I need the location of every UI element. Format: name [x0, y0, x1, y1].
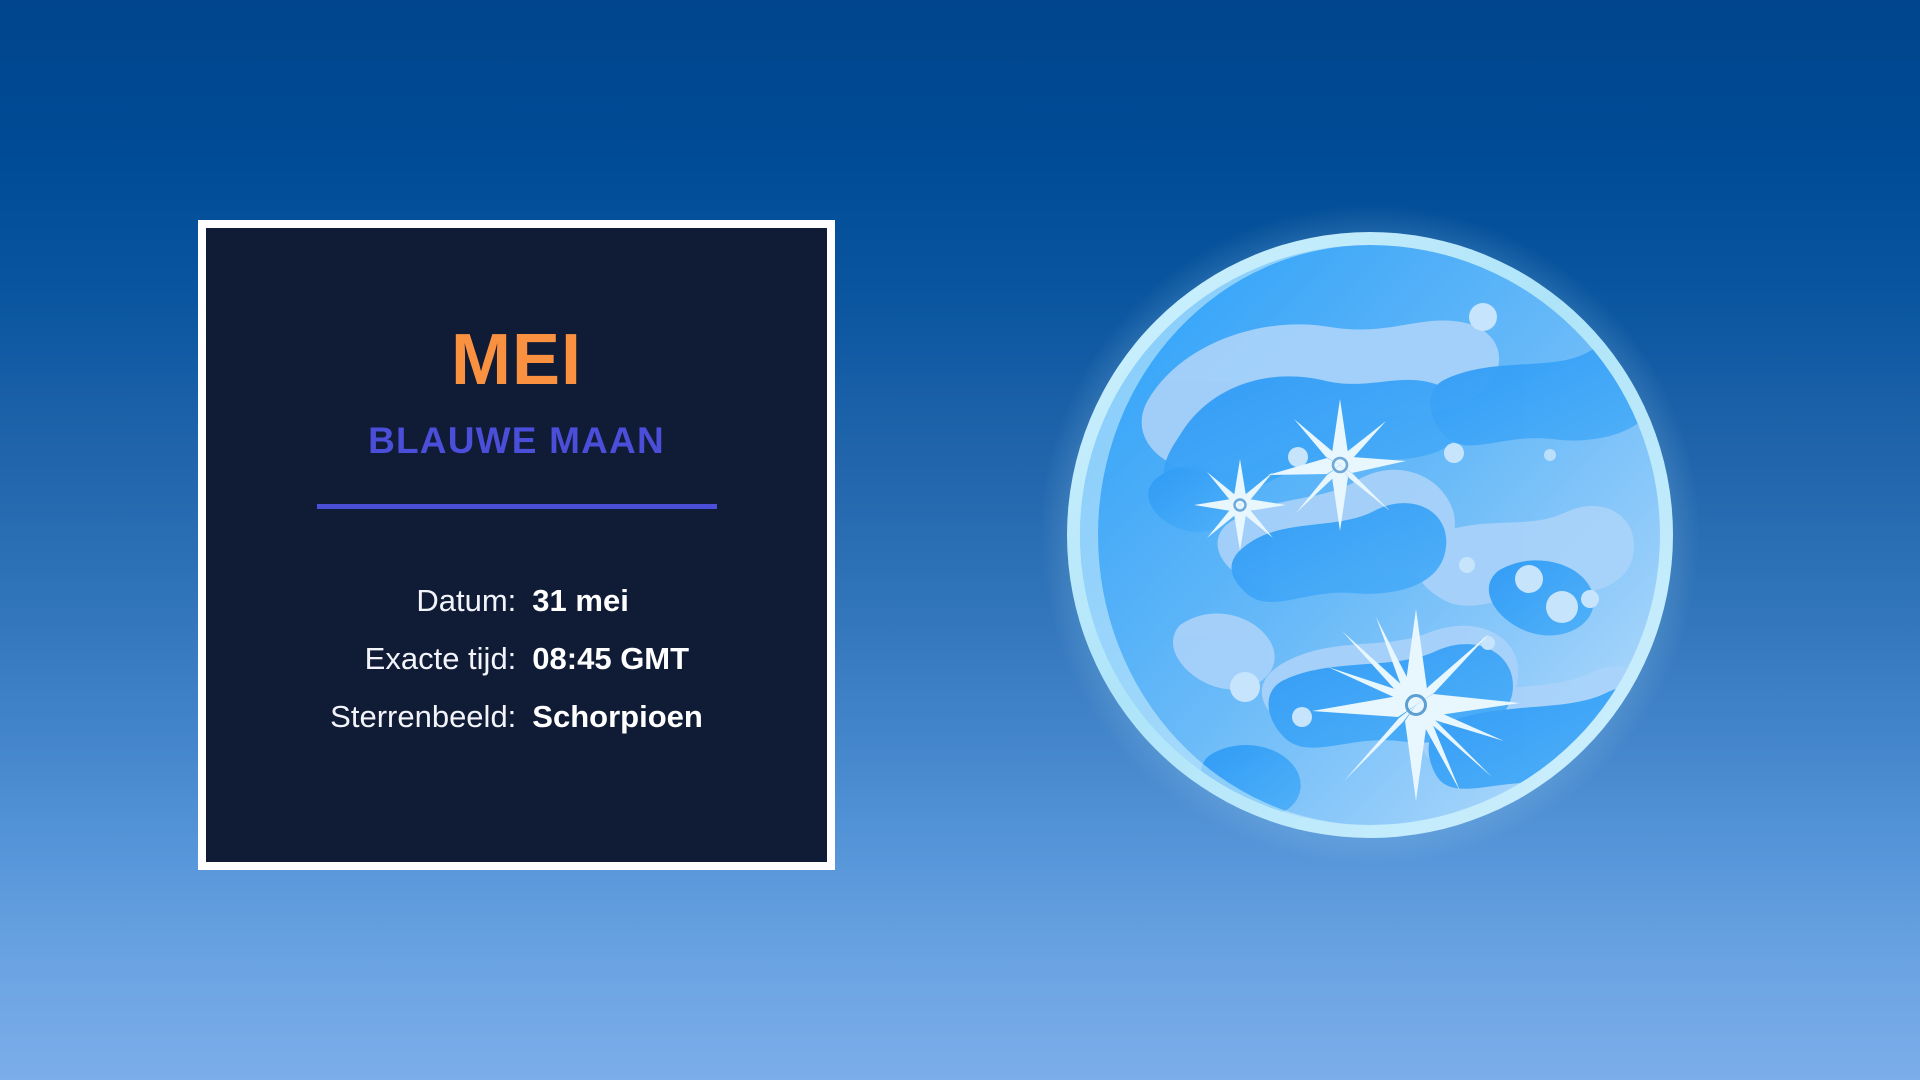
detail-value-exact-time: 08:45 GMT — [532, 641, 703, 677]
detail-label-date: Datum: — [330, 583, 516, 619]
detail-label-exact-time: Exacte tijd: — [330, 641, 516, 677]
poster-canvas: MEI BLAUWE MAAN Datum: 31 mei Exacte tij… — [0, 0, 1920, 1080]
detail-label-zodiac: Sterrenbeeld: — [330, 699, 516, 735]
moon-info-card: MEI BLAUWE MAAN Datum: 31 mei Exacte tij… — [198, 220, 835, 870]
moon-illustration — [1030, 195, 1710, 875]
moon-details-list: Datum: 31 mei Exacte tijd: 08:45 GMT Ste… — [330, 583, 703, 735]
detail-value-date: 31 mei — [532, 583, 703, 619]
full-moon-icon — [1030, 195, 1710, 875]
sparkle-small-icon — [1194, 459, 1286, 551]
detail-value-zodiac: Schorpioen — [532, 699, 703, 735]
moon-info-card-body: MEI BLAUWE MAAN Datum: 31 mei Exacte tij… — [206, 228, 827, 862]
moon-name-subtitle: BLAUWE MAAN — [368, 422, 665, 459]
page-title: MEI — [451, 324, 582, 396]
divider — [317, 504, 717, 509]
